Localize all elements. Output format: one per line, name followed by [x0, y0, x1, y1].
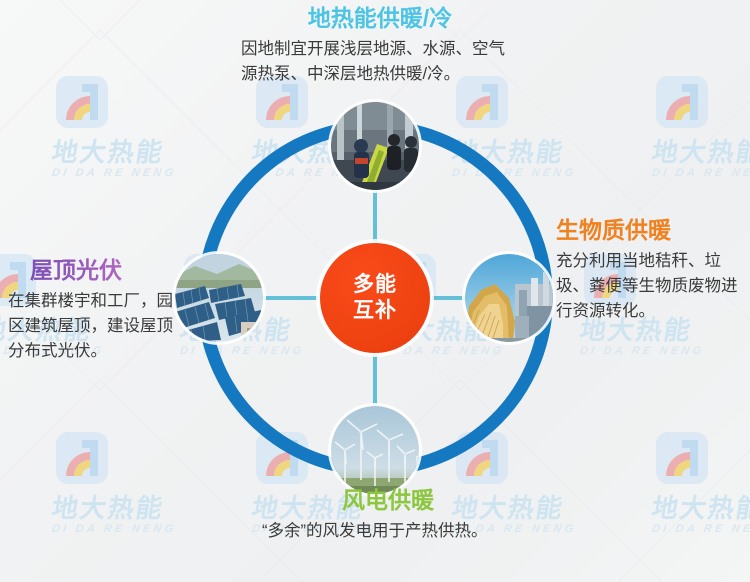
watermark: 地大热能 DI DA RE NENG	[652, 430, 750, 535]
didareneng-logo-icon	[52, 74, 112, 134]
center-label-line2: 互补	[353, 298, 397, 324]
center-label-line1: 多能	[353, 272, 397, 298]
watermark-text: 地大热能	[650, 495, 750, 521]
section-wind-body: “多余”的风发电用于产热供热。	[262, 519, 514, 544]
section-biomass: 生物质供暖 充分利用当地秸秆、垃圾、粪便等生物质废物进行资源转化。	[556, 218, 750, 325]
watermark-subtext: DI DA RE NENG	[51, 167, 177, 179]
infographic-canvas: 地大热能 DI DA RE NENG 地大热能 DI DA RE NENG 地大…	[0, 0, 750, 582]
section-rooftop-pv: 屋顶光伏 在集群楼宇和工厂，园区建筑屋顶，建设屋顶分布式光伏。	[8, 258, 188, 365]
watermark-text: 地大热能	[50, 495, 178, 521]
section-wind: 风电供暖 “多余”的风发电用于产热供热。	[248, 488, 528, 544]
watermark-text: 地大热能	[50, 139, 178, 165]
watermark: 地大热能 DI DA RE NENG	[652, 74, 750, 179]
section-geothermal-title: 地热能供暖/冷	[200, 6, 560, 31]
section-rooftop-pv-body: 在集群楼宇和工厂，园区建筑屋顶，建设屋顶分布式光伏。	[8, 289, 188, 364]
spoke-top	[373, 190, 377, 242]
watermark: 地大热能 DI DA RE NENG	[52, 430, 176, 535]
watermark-subtext: DI DA RE NENG	[51, 523, 177, 535]
watermark: 地大热能 DI DA RE NENG	[52, 74, 176, 179]
didareneng-logo-icon	[652, 430, 712, 490]
didareneng-logo-icon	[652, 74, 712, 134]
spoke-bottom	[373, 354, 377, 406]
center-badge: 多能 互补	[320, 243, 430, 353]
watermark-subtext: DI DA RE NENG	[651, 523, 750, 535]
biomass-straw-plant-photo	[465, 254, 553, 342]
geothermal-drilling-photo	[331, 102, 419, 190]
wind-turbines-photo	[331, 406, 419, 494]
watermark-subtext: DI DA RE NENG	[579, 345, 705, 357]
watermark-text: 地大热能	[650, 139, 750, 165]
section-rooftop-pv-title: 屋顶光伏	[30, 258, 188, 283]
didareneng-logo-icon	[52, 430, 112, 490]
rooftop-solar-panels-photo	[175, 254, 263, 342]
section-biomass-body: 充分利用当地秸秆、垃圾、粪便等生物质废物进行资源转化。	[556, 249, 750, 324]
watermark-subtext: DI DA RE NENG	[651, 167, 750, 179]
section-biomass-title: 生物质供暖	[556, 218, 750, 243]
section-wind-title: 风电供暖	[248, 488, 528, 513]
section-geothermal: 地热能供暖/冷 因地制宜开展浅层地源、水源、空气源热泵、中深层地热供暖/冷。	[200, 6, 560, 87]
section-geothermal-body: 因地制宜开展浅层地源、水源、空气源热泵、中深层地热供暖/冷。	[241, 37, 519, 87]
